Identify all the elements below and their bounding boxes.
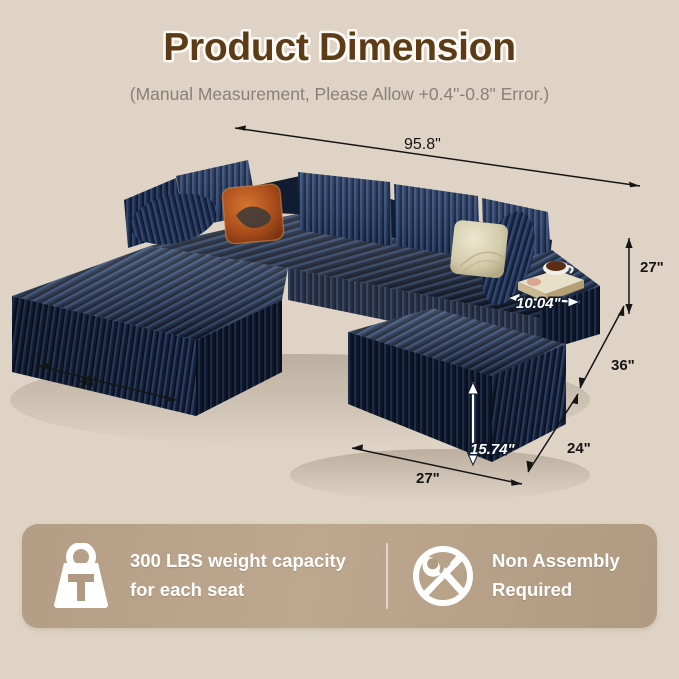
dimension-label-seat-depth: 24" xyxy=(567,440,591,457)
infographic-canvas: Product Dimension (Manual Measurement, P… xyxy=(0,0,679,679)
feature-bar: 300 LBS weight capacity for each seat xyxy=(22,524,657,628)
feature-weight-text: 300 LBS weight capacity for each seat xyxy=(130,547,346,604)
feature-weight-capacity: 300 LBS weight capacity for each seat xyxy=(22,524,386,628)
dimension-label-ottoman-width: 27" xyxy=(416,470,440,487)
feature-assembly-text: Non Assembly Required xyxy=(492,547,620,604)
feature-weight-line1: 300 LBS weight capacity xyxy=(130,547,346,576)
feature-weight-line2: for each seat xyxy=(130,576,346,605)
dimension-label-chaise-depth-left: 36" xyxy=(76,374,99,392)
dimension-label-chaise-depth-right: 36" xyxy=(611,357,635,374)
feature-assembly-line1: Non Assembly xyxy=(492,547,620,576)
dimension-label-ottoman-height: 15.74" xyxy=(470,441,515,458)
feature-no-assembly: Non Assembly Required xyxy=(388,524,657,628)
feature-assembly-line2: Required xyxy=(492,576,620,605)
no-assembly-icon xyxy=(412,543,474,609)
dimension-label-armrest-width: 10.04" xyxy=(516,295,561,312)
weight-icon xyxy=(50,543,112,609)
dimension-label-backrest-height: 27" xyxy=(640,259,664,276)
dimension-label-overall-width: 95.8" xyxy=(404,136,441,154)
